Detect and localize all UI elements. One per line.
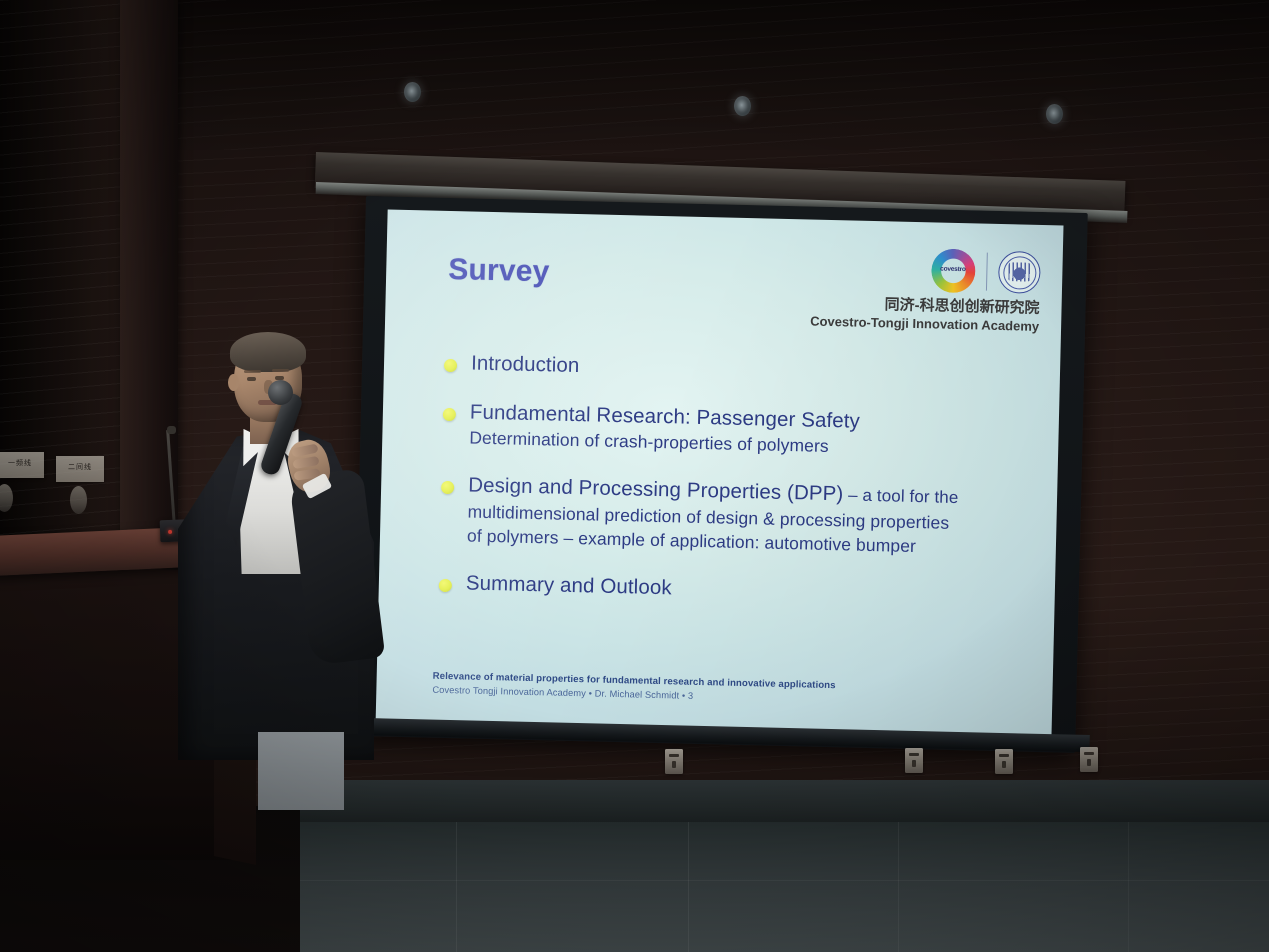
ceiling-downlight-icon [1046,104,1063,124]
wall-sign: 一频线 [0,452,44,478]
slide: Survey covestro 同济-科思创创新研究院 Covestro-Ton… [376,210,1064,738]
slide-footer: Relevance of material properties for fun… [432,669,1022,710]
projection-screen-surface: Survey covestro 同济-科思创创新研究院 Covestro-Ton… [376,210,1064,738]
tongji-university-seal-icon [998,251,1041,294]
floor-tile-seams [258,822,1269,952]
list-item: Introduction [444,351,1030,389]
bullet-dot-icon [444,359,457,372]
ceiling-slat-texture [0,0,1269,150]
bullet-dot-icon [439,579,452,592]
microphone-head-icon [268,380,293,405]
logo-divider [985,253,987,291]
projection-screen-frame: Survey covestro 同济-科思创创新研究院 Covestro-Ton… [353,196,1088,753]
logo-row: covestro [790,245,1041,295]
bullet-main-text: Introduction [471,352,1030,389]
ceiling-downlight-icon [404,82,421,102]
presentation-photo-scene: 一频线 二间线 Survey covestro [0,0,1269,952]
slide-logo-block: covestro 同济-科思创创新研究院 Covestro-Tongji Inn… [789,245,1041,334]
bullet-main-tail: – a tool for the [843,486,959,508]
eyebrow-left [244,370,261,373]
hair [230,332,306,372]
wall-outlet [995,749,1013,774]
trousers [258,732,344,810]
wall-sign-text: 一频线 [0,452,44,468]
wall-outlet [905,748,923,773]
stage-front-edge [258,780,1269,826]
wall-sign-text: 二间线 [56,456,104,472]
list-item: Summary and Outlook [439,571,1025,609]
stage-floor [258,822,1269,952]
wall-outlet [1080,747,1098,772]
slide-bullet-list: Introduction Fundamental Research: Passe… [438,351,1030,634]
covestro-logo-icon: covestro [930,248,975,293]
list-item: Fundamental Research: Passenger Safety D… [442,400,1029,462]
bullet-dot-icon [443,408,456,421]
wall-knob [70,486,87,514]
covestro-wordmark: covestro [931,265,975,273]
ear [228,374,239,391]
bullet-main-text: Summary and Outlook [466,571,1025,608]
list-item: Design and Processing Properties (DPP) –… [440,473,1028,559]
speaker-person [172,330,387,810]
ceiling [0,0,1269,150]
eye-left [247,377,256,381]
bullet-dot-icon [441,481,454,494]
eyebrow-right [272,369,289,372]
wall-sign: 二间线 [56,456,104,482]
ceiling-downlight-icon [734,96,751,116]
wall-outlet [665,749,683,774]
